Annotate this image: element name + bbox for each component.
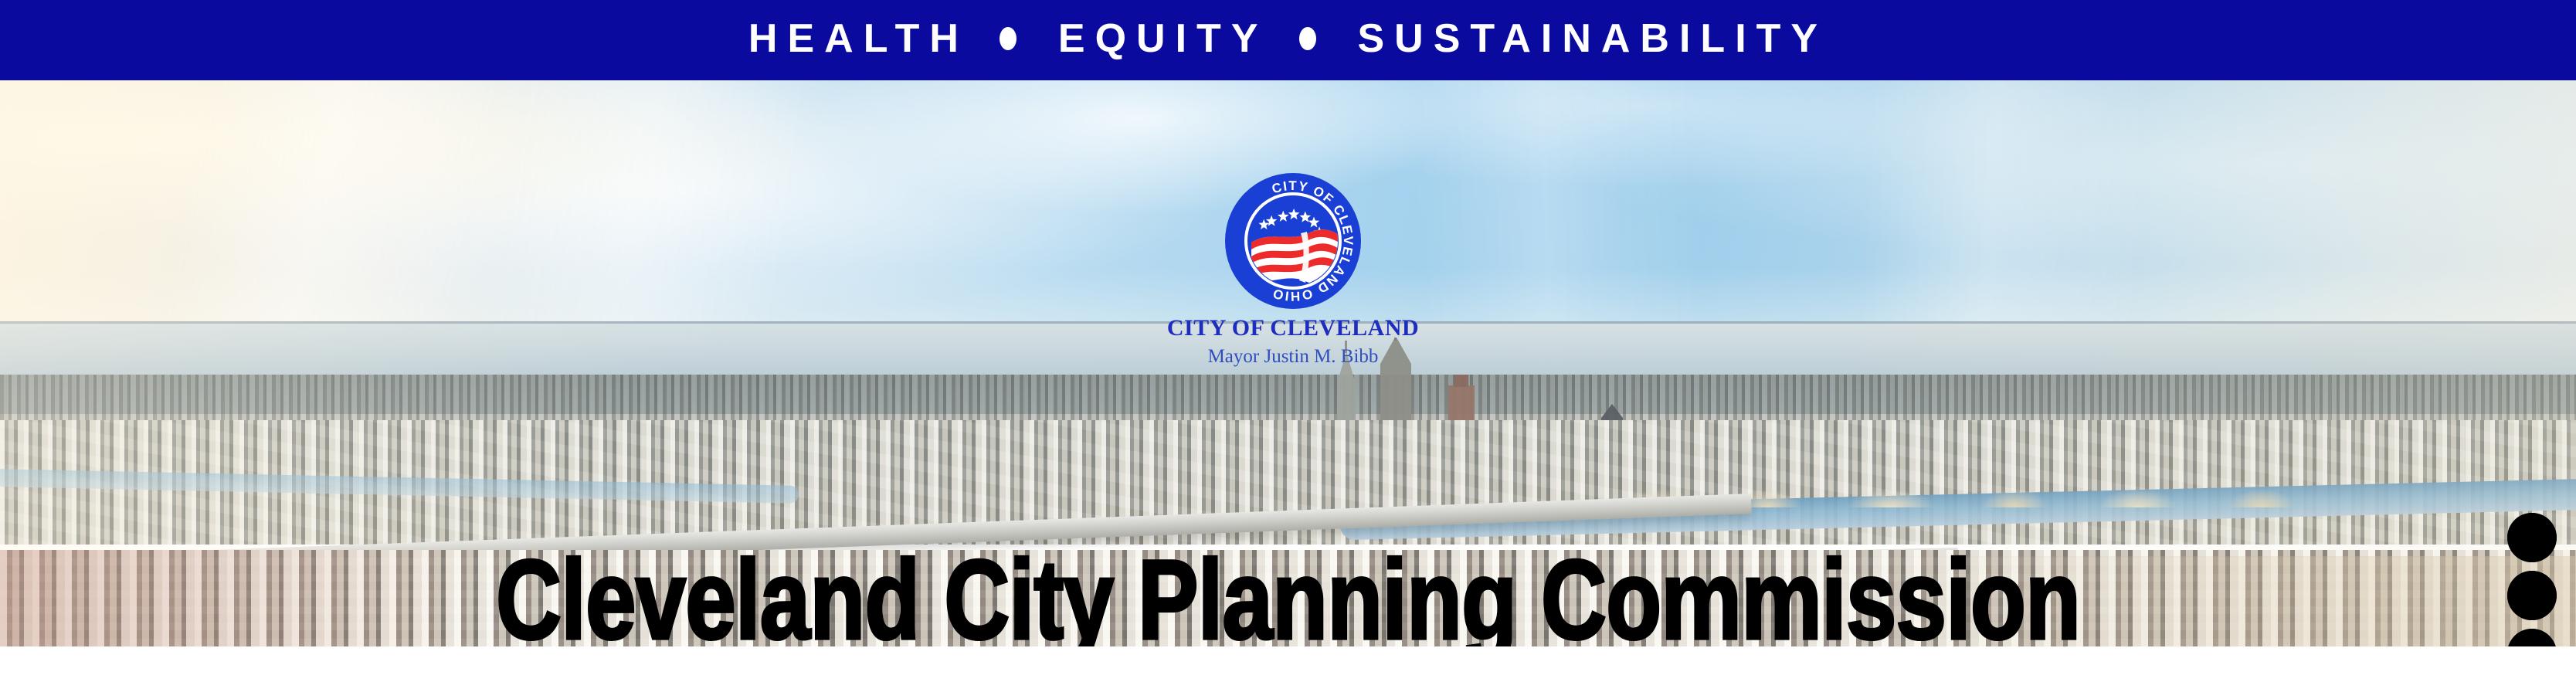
tagline-word-equity: EQUITY <box>1058 19 1268 59</box>
seal-svg: CITY OF CLEVELAND OHIO <box>1224 171 1363 310</box>
tagline-bar: HEALTH EQUITY SUSTAINABILITY <box>0 0 2576 80</box>
social-link-instagram[interactable] <box>2507 571 2557 620</box>
city-brand-lockup: CITY OF CLEVELAND OHIO <box>1154 171 1432 403</box>
social-link-facebook[interactable] <box>2507 629 2557 646</box>
hero-banner: CITY OF CLEVELAND OHIO <box>0 80 2576 646</box>
social-links <box>2507 513 2557 646</box>
bottom-white-strip <box>0 646 2576 682</box>
tagline-separator-dot-icon <box>1000 27 1016 50</box>
social-link-youtube[interactable] <box>2507 513 2557 562</box>
city-of-cleveland-wordmark: CITY OF CLEVELAND <box>1167 317 1419 340</box>
youtube-icon <box>2507 513 2557 562</box>
tagline-separator-dot-icon-2 <box>1299 27 1316 50</box>
page-title: Cleveland City Planning Commission <box>0 544 2576 646</box>
tagline-word-health: HEALTH <box>748 19 969 59</box>
instagram-icon <box>2507 571 2557 620</box>
page-root: HEALTH EQUITY SUSTAINABILITY <box>0 0 2576 682</box>
tagline-word-sustainability: SUSTAINABILITY <box>1358 19 1828 59</box>
city-of-cleveland-seal-icon: CITY OF CLEVELAND OHIO <box>1224 171 1363 310</box>
tagline-inner: HEALTH EQUITY SUSTAINABILITY <box>748 19 1828 59</box>
mayor-name-label: Mayor Justin M. Bibb <box>1208 347 1379 366</box>
facebook-icon <box>2507 629 2557 646</box>
